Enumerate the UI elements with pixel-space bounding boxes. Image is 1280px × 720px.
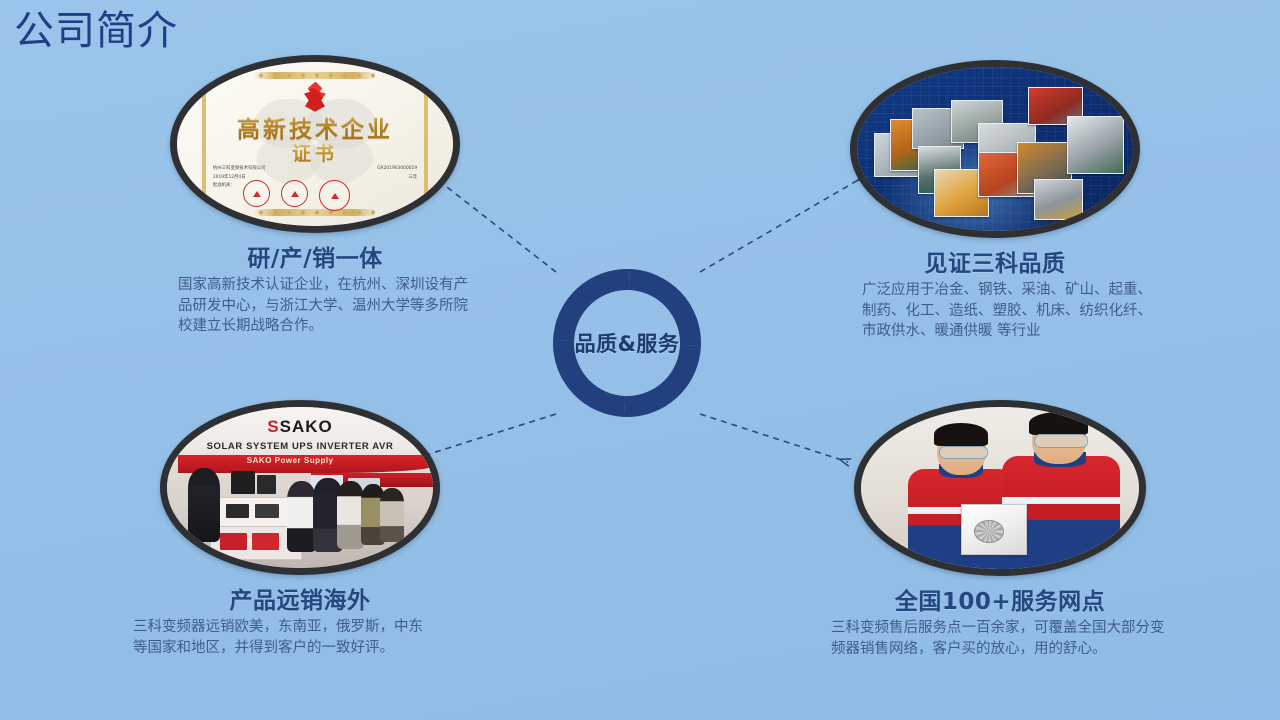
- official-seal-icon: [243, 180, 270, 207]
- expo-booth-image: SSAKO SOLAR SYSTEM UPS INVERTER AVR SAKO…: [160, 400, 440, 575]
- certificate-validity: 三年: [408, 174, 417, 182]
- safety-glasses-icon: [939, 446, 988, 459]
- booth-product: [255, 504, 279, 518]
- feature-block-top-left: 高新技术企业 证书 杭州三科变频技术有限公司 GR201903000019 20…: [150, 55, 480, 337]
- booth-visitor: [337, 481, 364, 549]
- booth-product: [231, 471, 255, 494]
- certificate-ornament-top: [254, 72, 375, 79]
- booth-product: [220, 533, 247, 551]
- feature-body-bottom-left: 三科变频器远销欧美，东南亚，俄罗斯，中东等国家和地区，并得到客户的一致好评。: [133, 617, 433, 658]
- feature-heading-top-right: 见证三科品质: [830, 244, 1160, 278]
- certificate-subtitle: 证书: [177, 139, 453, 166]
- official-seal-icon: [281, 180, 308, 207]
- feature-block-top-right: 见证三科品质 广泛应用于冶金、钢铁、采油、矿山、起重、制药、化工、造纸、塑胶、机…: [830, 60, 1160, 342]
- technician-hair: [1029, 412, 1088, 435]
- center-ring-label: 品质&服务: [527, 243, 727, 443]
- certificate-issue-date: 2019年12月4日: [213, 174, 246, 182]
- official-seal-icon: [319, 180, 350, 211]
- expo-booth-artwork: SSAKO SOLAR SYSTEM UPS INVERTER AVR SAKO…: [167, 407, 433, 568]
- feature-heading-bottom-right: 全国100+服务网点: [835, 582, 1165, 616]
- feature-block-bottom-left: SSAKO SOLAR SYSTEM UPS INVERTER AVR SAKO…: [135, 400, 465, 658]
- feature-heading-bottom-left: 产品远销海外: [135, 581, 465, 615]
- feature-body-top-left: 国家高新技术认证企业，在杭州、深圳设有产品研发中心，与浙江大学、温州大学等多所院…: [150, 275, 480, 337]
- feature-heading-top-left: 研/产/销一体: [150, 239, 480, 273]
- certificate-image: 高新技术企业 证书 杭州三科变频技术有限公司 GR201903000019 20…: [170, 55, 460, 233]
- certificate-artwork: 高新技术企业 证书 杭州三科变频技术有限公司 GR201903000019 20…: [177, 62, 453, 226]
- booth-tagline: SOLAR SYSTEM UPS INVERTER AVR: [167, 441, 433, 452]
- feature-body-bottom-right: 三科变频售后服务点一百余家，可覆盖全国大部分变频器销售网络，客户买的放心，用的舒…: [831, 618, 1171, 659]
- product-box: [961, 504, 1027, 555]
- product-fan-grille-icon: [974, 520, 1004, 543]
- feature-block-bottom-right: 全国100+服务网点 三科变频售后服务点一百余家，可覆盖全国大部分变频器销售网络…: [835, 400, 1165, 659]
- industrial-collage-artwork: [857, 67, 1133, 231]
- booth-visitor: [380, 488, 404, 543]
- certificate-number: GR201903000019: [377, 165, 417, 173]
- feature-body-top-right: 广泛应用于冶金、钢铁、采油、矿山、起重、制药、化工、造纸、塑胶、机床、纺织化纤、…: [830, 280, 1162, 342]
- technician-hair: [934, 423, 987, 446]
- collage-tile: [1067, 116, 1124, 174]
- collage-tile: [1034, 179, 1083, 220]
- certificate-seals: [243, 180, 350, 211]
- service-technicians-image: [854, 400, 1146, 576]
- booth-product: [226, 504, 250, 518]
- booth-product: [257, 475, 276, 494]
- booth-brand-sign: SSAKO: [167, 417, 433, 437]
- technician-uniform-stripe: [1002, 497, 1119, 504]
- booth-brand-text: SAKO: [280, 417, 333, 436]
- booth-sub-sign: SAKO Power Supply: [247, 456, 334, 465]
- booth-visitor: [287, 481, 316, 552]
- booth-visitor: [188, 468, 220, 542]
- page-title: 公司简介: [14, 8, 178, 54]
- slide-canvas: 公司简介 品质&服务: [0, 0, 1280, 720]
- booth-product: [252, 533, 279, 551]
- certificate-company: 杭州三科变频技术有限公司: [213, 165, 266, 173]
- certificate-issuer-label: 批准机关：: [213, 182, 235, 190]
- center-ring: 品质&服务: [527, 243, 727, 443]
- industrial-collage-image: [850, 60, 1140, 238]
- safety-glasses-icon: [1034, 434, 1087, 447]
- technicians-artwork: [861, 407, 1139, 569]
